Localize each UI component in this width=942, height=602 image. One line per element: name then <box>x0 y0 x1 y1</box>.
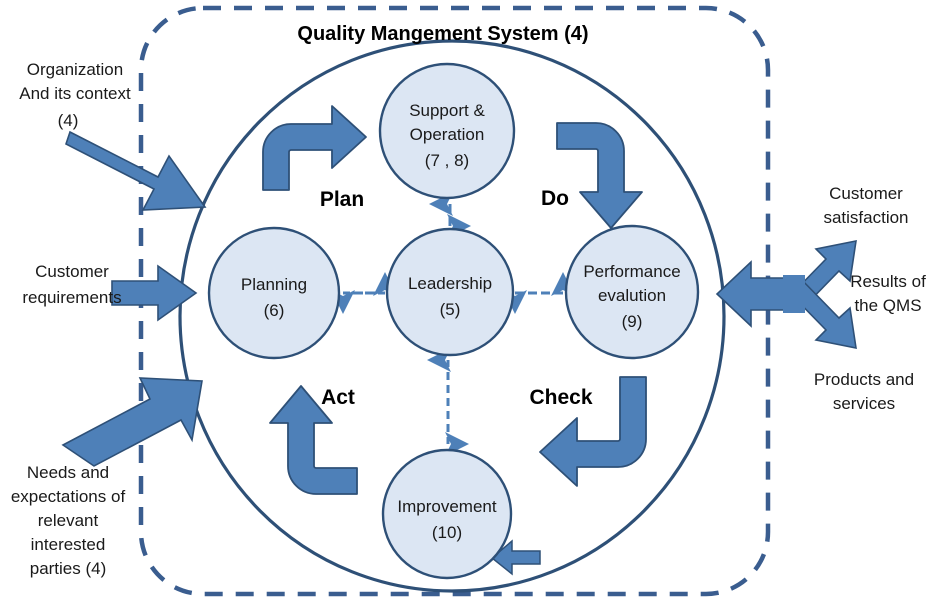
qms-results-output-arrow <box>717 241 856 348</box>
customer-requirements-line2: requirements <box>22 288 121 307</box>
pdca-label-do: Do <box>541 187 569 210</box>
needs-expectations-line5: parties (4) <box>30 559 107 578</box>
pdca-label-plan: Plan <box>320 188 364 211</box>
leadership-label-line1: Leadership <box>408 274 492 293</box>
improvement-label-line1: Improvement <box>397 497 496 516</box>
organization-context-line3: (4) <box>58 111 79 130</box>
leadership-label-line2: (5) <box>440 300 461 319</box>
input-label-needs-expectations: Needs and expectations of relevant inter… <box>11 463 126 578</box>
products-services-line2: services <box>833 394 895 413</box>
output-label-products-services: Products and services <box>814 370 914 413</box>
customer-satisfaction-line1: Customer <box>829 184 903 203</box>
needs-expectations-line4: interested <box>31 535 106 554</box>
pdca-label-act: Act <box>321 386 355 409</box>
plan-cycle-arrow <box>263 106 366 190</box>
organization-input-arrow <box>66 132 205 210</box>
planning-label-line1: Planning <box>241 275 307 294</box>
needs-expectations-line3: relevant <box>38 511 99 530</box>
organization-context-line1: Organization <box>27 60 123 79</box>
needs-expectations-line1: Needs and <box>27 463 109 482</box>
input-label-customer-requirements: Customer requirements <box>22 262 121 307</box>
qms-pdca-diagram: Quality Mangement System (4) <box>0 0 942 602</box>
results-of-qms-line2: the QMS <box>854 296 921 315</box>
performance-evaluation-label-line2: evalution <box>598 286 666 305</box>
node-leadership[interactable]: Leadership (5) <box>387 229 513 355</box>
input-label-organization-context: Organization And its context (4) <box>19 60 131 130</box>
support-operation-label-line1: Support & <box>409 101 485 120</box>
results-of-qms-line1: Results of <box>850 272 926 291</box>
diagram-canvas: Quality Mangement System (4) <box>0 0 942 602</box>
organization-context-line2: And its context <box>19 84 131 103</box>
support-operation-label-line2: Operation <box>410 125 485 144</box>
output-label-customer-satisfaction: Customer satisfaction <box>823 184 908 227</box>
planning-label-line2: (6) <box>264 301 285 320</box>
page-title: Quality Mangement System (4) <box>297 23 588 45</box>
node-planning[interactable]: Planning (6) <box>209 228 339 358</box>
products-services-line1: Products and <box>814 370 914 389</box>
node-support-operation[interactable]: Support & Operation (7 , 8) <box>380 64 514 198</box>
node-performance-evaluation[interactable]: Performance evalution (9) <box>566 226 698 358</box>
node-improvement[interactable]: Improvement (10) <box>383 450 511 578</box>
performance-evaluation-label-line3: (9) <box>622 312 643 331</box>
needs-expectations-input-arrow <box>63 378 202 466</box>
do-cycle-arrow <box>557 123 642 228</box>
support-operation-label-line3: (7 , 8) <box>425 151 469 170</box>
output-label-results-of-qms: Results of the QMS <box>850 272 926 315</box>
performance-evaluation-label-line1: Performance <box>583 262 680 281</box>
pdca-label-check: Check <box>529 386 592 409</box>
improvement-label-line2: (10) <box>432 523 462 542</box>
needs-expectations-line2: expectations of <box>11 487 126 506</box>
customer-requirements-line1: Customer <box>35 262 109 281</box>
customer-satisfaction-line2: satisfaction <box>823 208 908 227</box>
